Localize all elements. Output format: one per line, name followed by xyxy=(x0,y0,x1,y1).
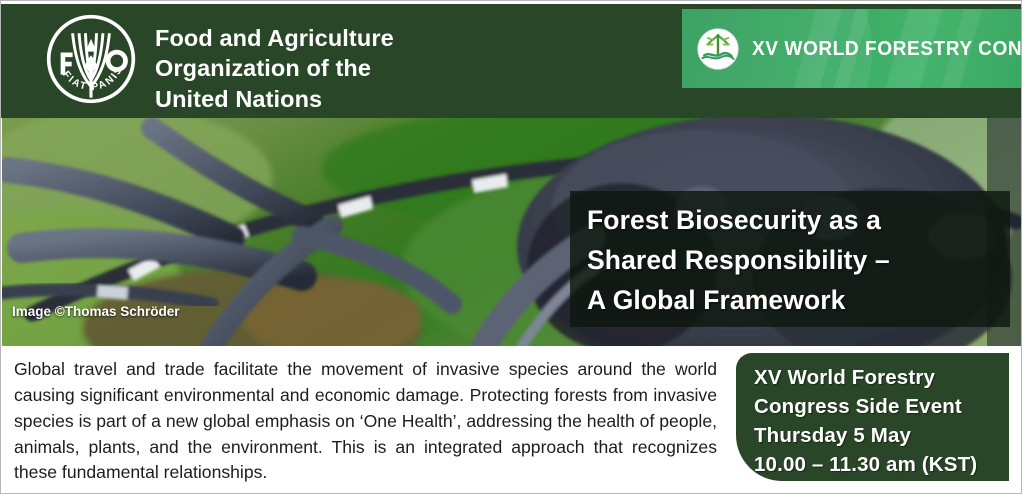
fao-organization-name: Food and Agriculture Organization of the… xyxy=(155,23,394,114)
event-details-box: XV World Forestry Congress Side Event Th… xyxy=(736,353,1009,481)
title-overlay: Forest Biosecurity as a Shared Responsib… xyxy=(570,191,1010,327)
event-poster: FIAT PANIS Food and Agriculture Organiza… xyxy=(0,0,1022,494)
event-details-text: XV World Forestry Congress Side Event Th… xyxy=(754,363,977,479)
congress-title: XV WORLD FORESTRY CONGRESS xyxy=(752,37,1021,61)
fao-branding: FIAT PANIS Food and Agriculture Organiza… xyxy=(45,13,394,114)
description-paragraph: Global travel and trade facilitate the m… xyxy=(14,357,717,486)
forestry-congress-globe-tree-icon xyxy=(696,27,740,71)
congress-band: XV WORLD FORESTRY CONGRESS xyxy=(682,9,1021,88)
image-credit: Image ©Thomas Schröder xyxy=(12,304,180,319)
event-title: Forest Biosecurity as a Shared Responsib… xyxy=(587,201,890,320)
fao-emblem-icon: FIAT PANIS xyxy=(45,13,137,105)
